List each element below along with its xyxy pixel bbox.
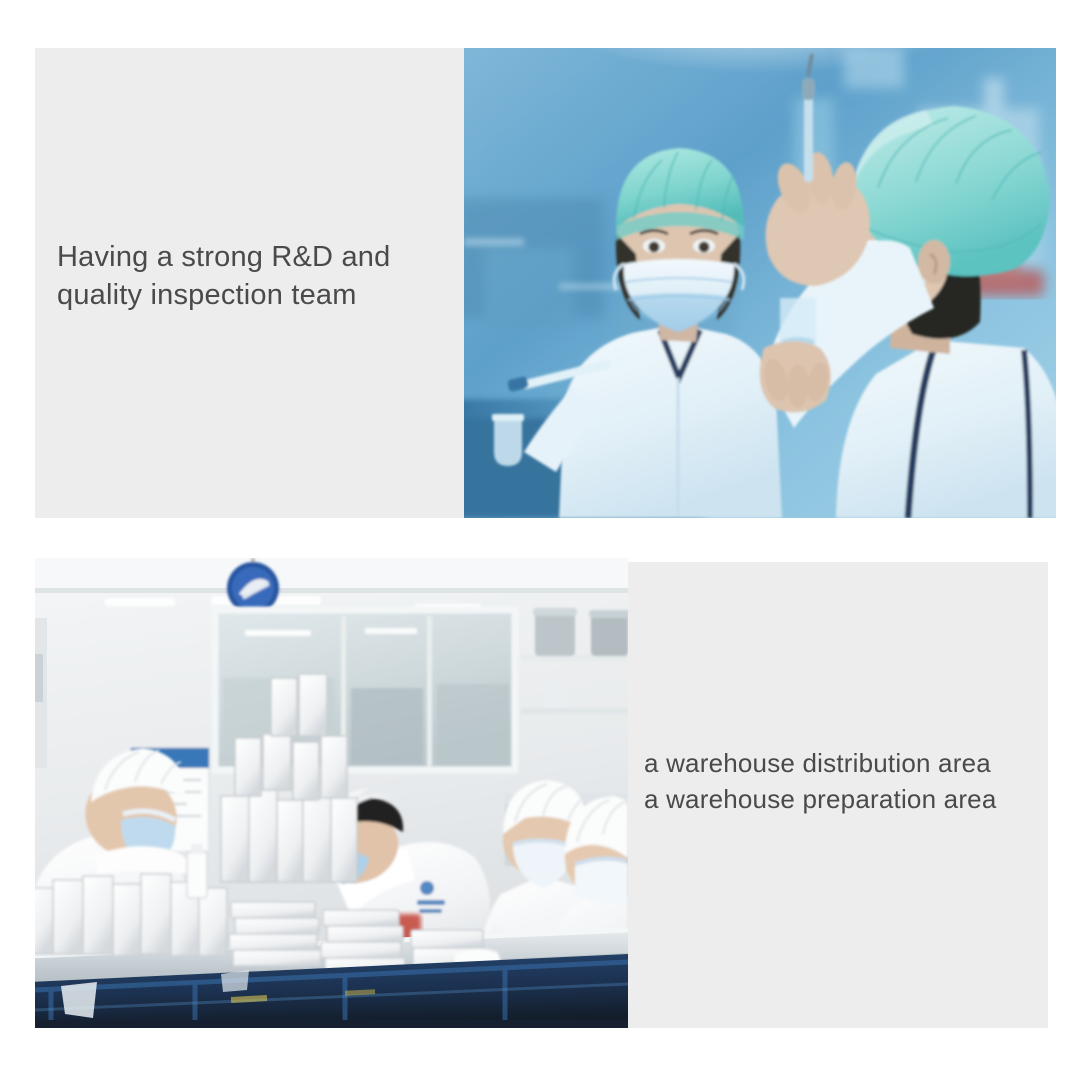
warehouse-packing-photo-svg: [35, 558, 628, 1028]
page-root: Having a strong R&D and quality inspecti…: [0, 0, 1080, 1080]
caption-warehouse-areas: a warehouse distribution area a warehous…: [644, 745, 1064, 817]
warehouse-packing-photo: [35, 558, 628, 1028]
lab-technicians-photo: [464, 48, 1056, 518]
section-rd-quality-team: Having a strong R&D and quality inspecti…: [35, 48, 1056, 518]
lab-technicians-photo-svg: [464, 48, 1056, 518]
caption-rd-quality-team: Having a strong R&D and quality inspecti…: [57, 238, 457, 314]
section-warehouse-areas: a warehouse distribution area a warehous…: [35, 562, 1048, 1028]
